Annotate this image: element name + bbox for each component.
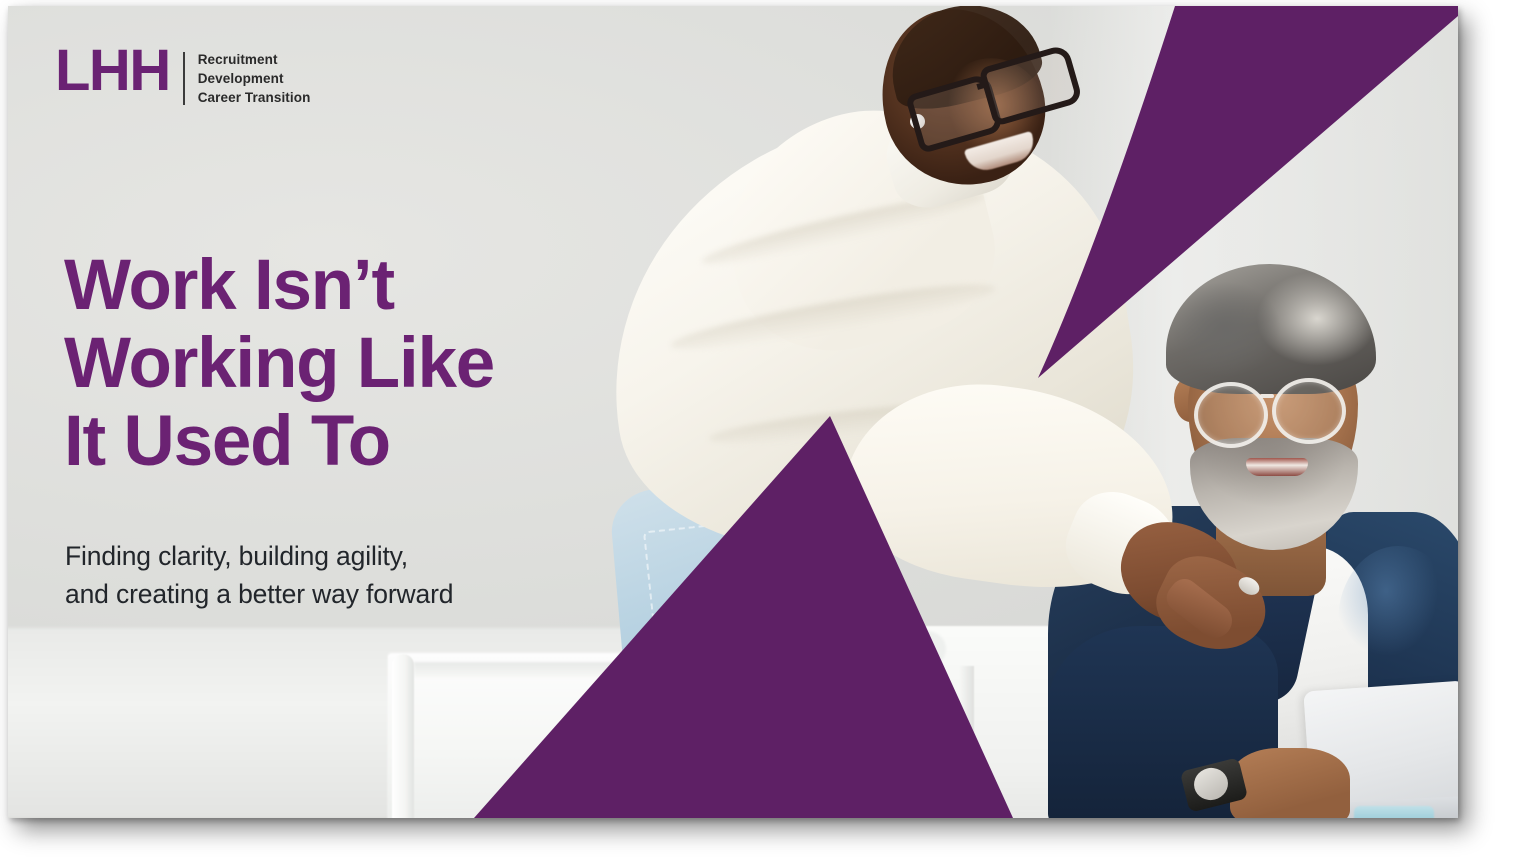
- logo-tagline-line-2: Development: [198, 70, 311, 89]
- chair-right-arm: [908, 631, 946, 667]
- logo-wordmark: LHH: [55, 48, 170, 93]
- headline-line-1: Work Isn’t: [64, 247, 494, 325]
- man-shoulder-highlight: [1338, 546, 1458, 696]
- man-lens-left: [1194, 382, 1268, 448]
- man-glasses-bridge: [1260, 394, 1274, 398]
- headline-line-3: It Used To: [64, 403, 494, 481]
- man-lens-right: [1272, 378, 1346, 444]
- logo-tagline-line-1: Recruitment: [198, 51, 311, 70]
- logo-divider: [183, 52, 185, 105]
- logo-tagline: Recruitment Development Career Transitio…: [198, 51, 311, 107]
- headline-line-2: Working Like: [64, 325, 494, 403]
- man-hand: [1230, 748, 1350, 818]
- man-mouth: [1246, 458, 1308, 476]
- lhh-logo[interactable]: LHH Recruitment Development Career Trans…: [55, 48, 310, 107]
- man-eyeglasses: [1194, 378, 1372, 440]
- woman-jeans-rivet-b: [808, 574, 817, 583]
- subtitle-line-1: Finding clarity, building agility,: [65, 538, 453, 576]
- slide-subtitle: Finding clarity, building agility, and c…: [65, 538, 453, 613]
- chair-right-leg: [960, 666, 974, 818]
- presentation-slide: LHH Recruitment Development Career Trans…: [8, 6, 1458, 818]
- screenshot-canvas: LHH Recruitment Development Career Trans…: [0, 0, 1536, 864]
- chair-left-post: [392, 654, 414, 818]
- subtitle-line-2: and creating a better way forward: [65, 576, 453, 614]
- logo-tagline-line-3: Career Transition: [198, 89, 311, 108]
- desk-object: [1354, 806, 1434, 818]
- slide-headline: Work Isn’t Working Like It Used To: [64, 247, 494, 482]
